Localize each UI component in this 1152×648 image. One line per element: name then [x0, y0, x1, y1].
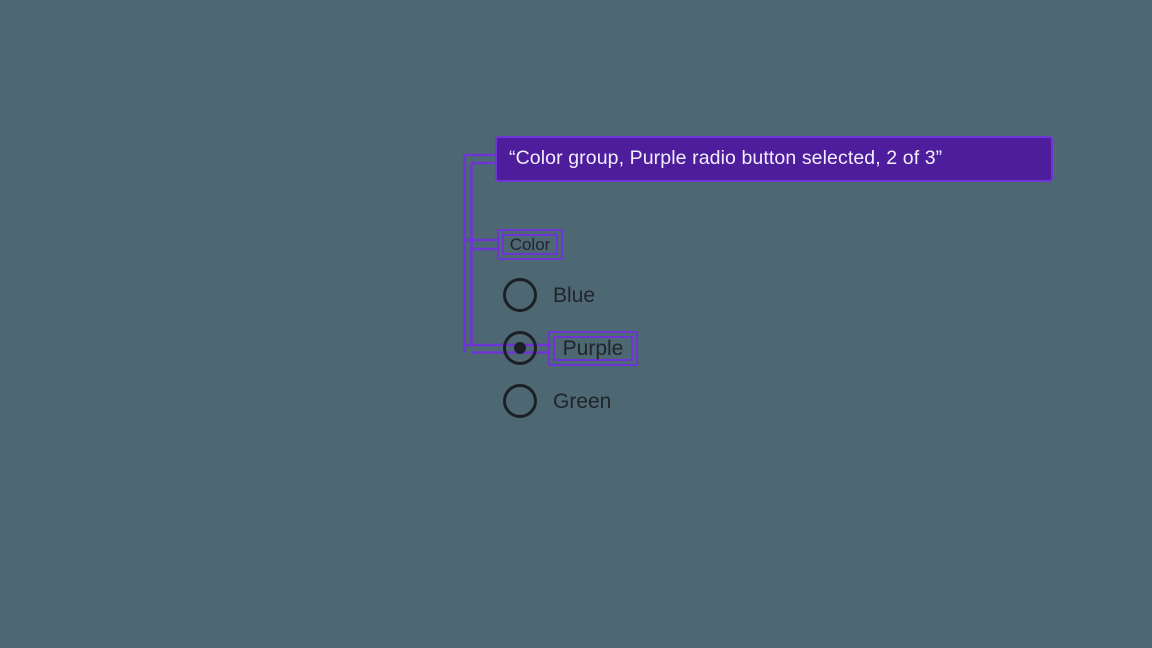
radio-unselected-icon[interactable]	[500, 381, 540, 421]
screenreader-announcement-tooltip: “Color group, Purple radio button select…	[495, 136, 1053, 182]
radio-ring	[503, 384, 537, 418]
radio-label-green: Green	[553, 391, 611, 412]
connector-tree	[0, 0, 1152, 648]
group-legend-label: Color	[510, 236, 551, 253]
radio-ring	[503, 278, 537, 312]
radio-option-blue[interactable]: Blue	[500, 275, 595, 315]
annotation-canvas: “Color group, Purple radio button select…	[0, 0, 1152, 648]
announcement-text: “Color group, Purple radio button select…	[509, 149, 942, 169]
radio-label-blue: Blue	[553, 285, 595, 306]
radio-selected-icon[interactable]	[500, 328, 540, 368]
radio-label-purple: Purple	[563, 338, 624, 359]
radio-option-green[interactable]: Green	[500, 381, 611, 421]
selected-option-highlight: Purple	[548, 331, 638, 366]
group-legend-highlight: Color	[497, 229, 563, 260]
radio-selected-dot	[514, 342, 526, 354]
radio-unselected-icon[interactable]	[500, 275, 540, 315]
